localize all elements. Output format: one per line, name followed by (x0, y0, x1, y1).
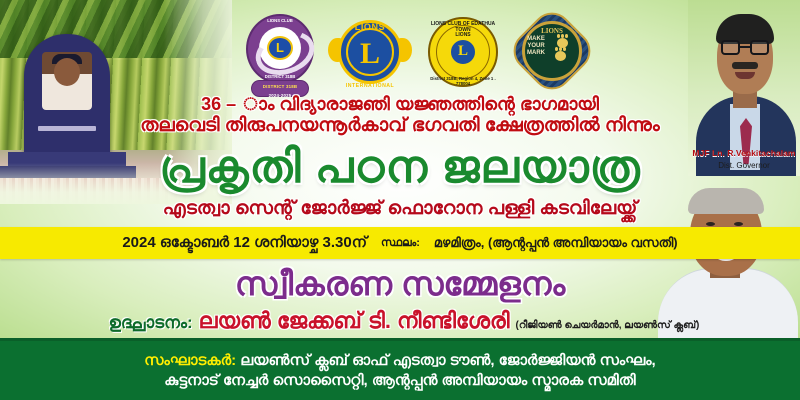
chairman-eye-left (706, 222, 715, 226)
governor-moustache (732, 62, 758, 69)
chairman-hair (688, 188, 764, 214)
district-ribbon-line1: DISTRICT 318B (252, 81, 308, 90)
lions-center-letter: L (327, 39, 413, 69)
make-your-mark-logo: LIONS MAKE YOUR MARK (513, 14, 591, 98)
organizers-label: സംഘാടകർ: (144, 352, 236, 369)
seal-center-emblem (449, 38, 477, 66)
reception-title: സ്വീകരണ സമ്മേളനം (0, 262, 800, 306)
paw-print-icon (555, 51, 566, 61)
logo-arc-text: LIONS CLUB DISTRICT 318B (246, 14, 314, 84)
organizers-row-1: സംഘാടകർ: ലയൺസ് ക്ലബ് ഓഫ് എടത്വാ ടൗൺ, ജോർ… (144, 351, 655, 371)
mym-slogan: MAKE YOUR MARK (521, 36, 551, 57)
mym-line1: MAKE (521, 36, 551, 43)
mym-line3: MARK (521, 50, 551, 57)
date-venue-band: 2024 ഒക്ടോബർ 12 ശനിയാഴ്ച 3.30ന് സ്ഥലം: മ… (0, 227, 800, 259)
inauguration-name: ലയൺ ജേക്കബ് ടി. നീണ്ടിശേരി (199, 308, 510, 334)
venue-label: സ്ഥലം: (381, 236, 420, 250)
lions-bottom-text: INTERNATIONAL (327, 83, 413, 89)
inauguration-label: ഉദ്ഘാടനം: (109, 312, 193, 334)
chairman-eye-right (734, 222, 743, 226)
event-date-time: 2024 ഒക്ടോബർ 12 ശനിയാഴ്ച 3.30ന് (122, 234, 367, 252)
subtitle-line-2: തലവെടി തിരുപനയന്നൂർകാവ് ഭഗവതി ക്ഷേത്രത്ത… (0, 114, 800, 138)
organizers-line-1: ലയൺസ് ക്ലബ് ഓഫ് എടത്വാ ടൗൺ, ജോർജ്ജിയൻ സം… (236, 352, 656, 369)
subtitle-line-1: 36 – ാം വിദ്യാരാജഞി യജ്ഞത്തിന്റെ ഭാഗമായി (0, 92, 800, 116)
eyeglasses-icon (721, 40, 769, 55)
district-318b-logo: LIONS CLUB DISTRICT 318B DISTRICT 318B 2… (243, 14, 317, 98)
inauguration-designation: (റീജിയൺ ചെയർമാൻ, ലയൺസ് ക്ലബ്) (516, 319, 700, 333)
logo-arc-top-text: LIONS CLUB (246, 18, 314, 23)
logo-row: LIONS CLUB DISTRICT 318B DISTRICT 318B 2… (243, 12, 588, 100)
lions-top-text: LIONS (327, 23, 413, 32)
portrait-face (54, 58, 80, 86)
organizers-footer: സംഘാടകർ: ലയൺസ് ക്ലബ് ഓഫ് എടത്വാ ടൗൺ, ജോർ… (0, 338, 800, 400)
seal-bottom-text: District 318B, Region 4, Zone 1 . 778004 (429, 76, 497, 86)
venue-value: മഴമിത്രം, (ആന്റപ്പൻ അമ്പിയായം വസതി) (434, 235, 678, 251)
mym-lions-text: LIONS (513, 28, 591, 35)
mym-line2: YOUR (521, 43, 551, 50)
lions-international-logo: LIONS L INTERNATIONAL (327, 14, 413, 98)
inauguration-line: ഉദ്ഘാടനം: ലയൺ ജേക്കബ് ടി. നീണ്ടിശേരി (റീ… (18, 308, 790, 334)
poster-root: LIONS CLUB DISTRICT 318B DISTRICT 318B 2… (0, 0, 800, 400)
logo-arc-bottom-text: DISTRICT 318B (246, 74, 314, 79)
organizers-line-2: കുട്ടനാട് നേച്ചർ സൊസൈറ്റി, ആന്റപ്പൻ അമ്പ… (164, 371, 635, 391)
lions-club-edathua-town-logo: LIONS CLUB OF EDATHUA TOWN LIONS Distric… (423, 14, 503, 98)
